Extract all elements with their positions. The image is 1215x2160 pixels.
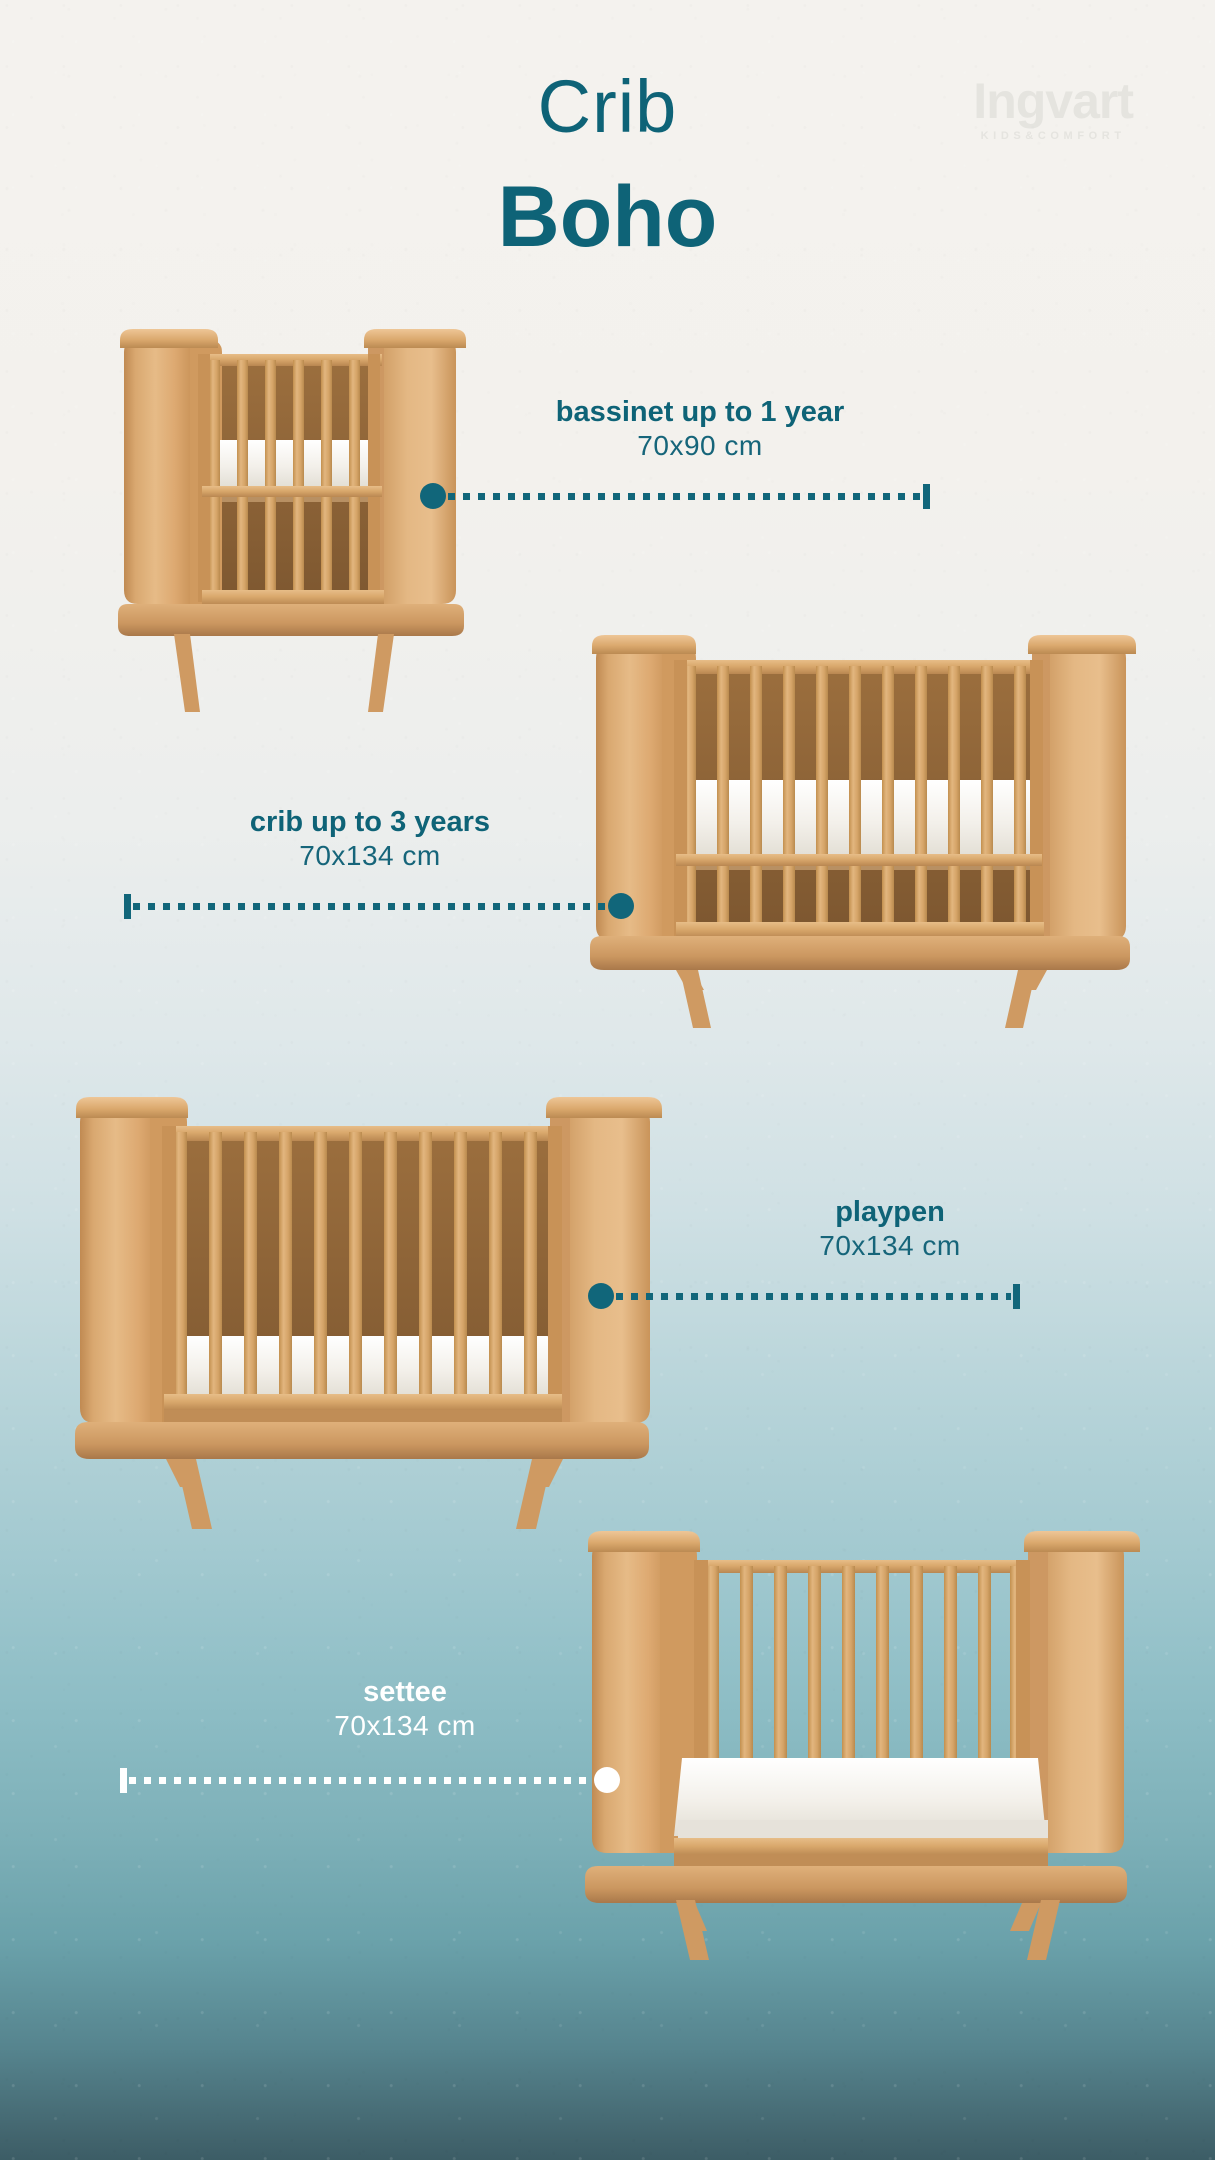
callout-label: bassinet up to 1 year <box>420 395 980 429</box>
callout-size: 70x134 cm <box>680 1229 1100 1263</box>
callout-label: crib up to 3 years <box>110 805 630 839</box>
title-model: Boho <box>0 172 1215 262</box>
rule-dotted-line <box>129 1777 592 1784</box>
callout-size: 70x134 cm <box>110 839 630 873</box>
dimension-rule-crib <box>124 901 634 911</box>
header: Crib Boho Ingvart KIDS&COMFORT <box>0 0 1215 300</box>
crib-leg-left <box>676 970 716 1030</box>
bassinet-crib-image <box>110 318 470 718</box>
callout-label: settee <box>180 1675 630 1709</box>
logo-tagline: KIDS&COMFORT <box>973 130 1133 142</box>
crib-leg-right <box>1000 970 1040 1030</box>
settee-leg-right <box>1018 1900 1066 1962</box>
dimension-rule-settee <box>120 1775 620 1785</box>
logo-wordmark: Ingvart <box>973 76 1133 126</box>
callout-size: 70x90 cm <box>420 429 980 463</box>
rule-dotted-line <box>133 903 606 910</box>
crib-image <box>580 630 1140 990</box>
settee-image <box>570 1512 1140 1932</box>
callout-label: playpen <box>680 1195 1100 1229</box>
callout-size: 70x134 cm <box>180 1709 630 1743</box>
dimension-rule-playpen <box>588 1291 1020 1301</box>
playpen-image <box>62 1088 662 1488</box>
callout-bassinet: bassinet up to 1 year 70x90 cm <box>420 395 980 463</box>
playpen-leg-left <box>172 1459 220 1531</box>
rule-end-cap-icon <box>923 484 930 509</box>
callout-settee: settee 70x134 cm <box>180 1675 630 1743</box>
rule-dotted-line <box>616 1293 1011 1300</box>
rule-knob-icon <box>420 483 446 509</box>
rule-knob-icon <box>588 1283 614 1309</box>
callout-crib: crib up to 3 years 70x134 cm <box>110 805 630 873</box>
rule-end-cap-icon <box>1013 1284 1020 1309</box>
rule-end-cap-icon <box>120 1768 127 1793</box>
rule-end-cap-icon <box>124 894 131 919</box>
rule-dotted-line <box>448 493 921 500</box>
brand-logo: Ingvart KIDS&COMFORT <box>973 76 1133 142</box>
playpen-leg-right <box>508 1459 556 1531</box>
dimension-rule-bassinet <box>420 491 930 501</box>
rule-knob-icon <box>594 1767 620 1793</box>
settee-leg-left <box>672 1900 720 1962</box>
callout-playpen: playpen 70x134 cm <box>680 1195 1100 1263</box>
rule-knob-icon <box>608 893 634 919</box>
